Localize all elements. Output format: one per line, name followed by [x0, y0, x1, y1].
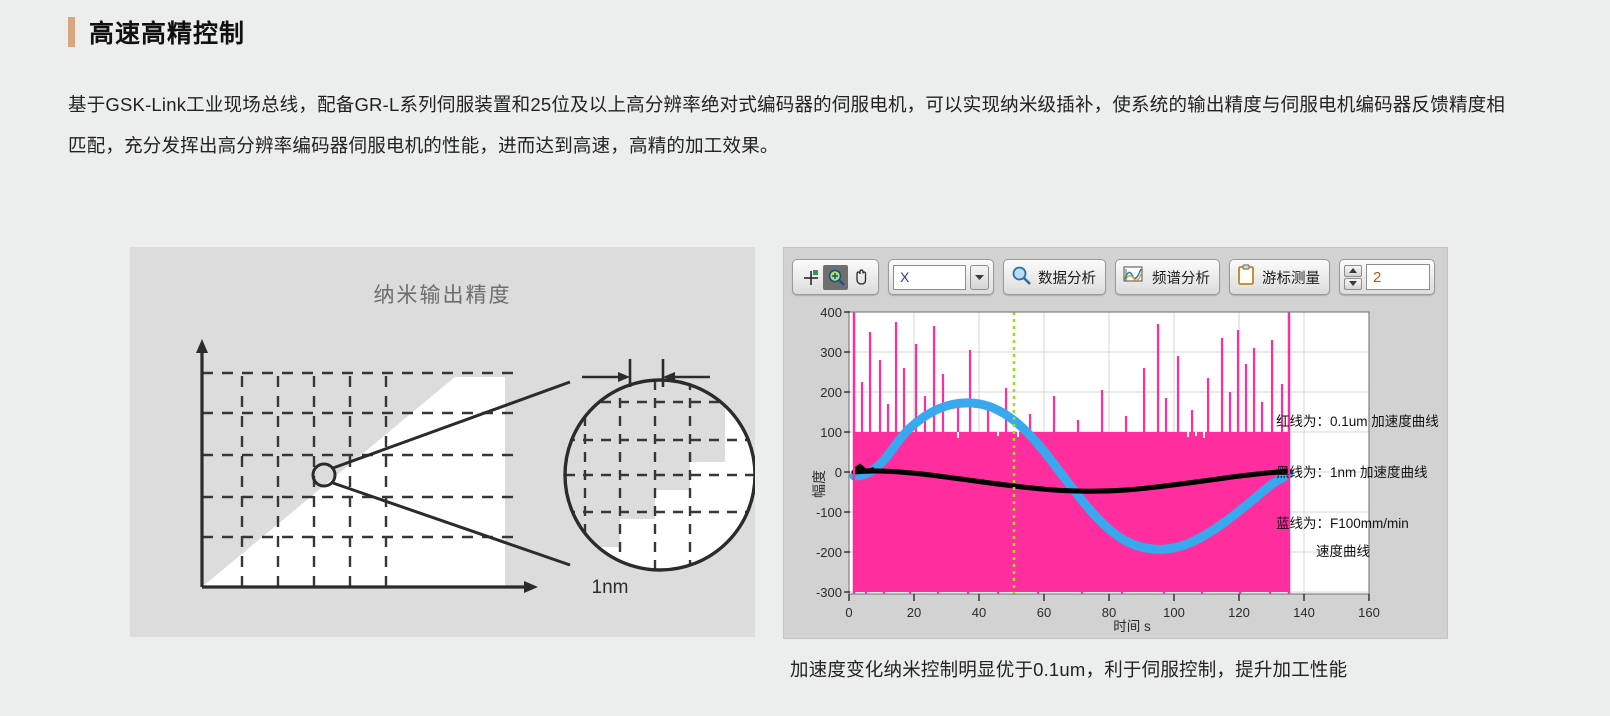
page-title: 高速高精控制 — [89, 14, 245, 50]
legend-blue-line: 蓝线为：F100mm/min — [1276, 516, 1409, 531]
cursor-count-spinner[interactable]: 2 — [1339, 259, 1435, 295]
accent-bar — [68, 17, 75, 47]
chart-toolbar: X 数据分析 频谱分析 — [792, 256, 1435, 298]
svg-text:100: 100 — [820, 425, 842, 440]
svg-text:100: 100 — [1163, 605, 1185, 620]
zoom-tool[interactable] — [823, 265, 848, 290]
cursor-measure-button[interactable]: 游标测量 — [1229, 259, 1330, 295]
spinner-value[interactable]: 2 — [1366, 264, 1430, 290]
crosshair-cursor-tool[interactable] — [798, 265, 823, 290]
svg-text:160: 160 — [1358, 605, 1380, 620]
svg-text:0: 0 — [835, 465, 842, 480]
svg-text:-200: -200 — [816, 545, 842, 560]
data-analysis-button[interactable]: 数据分析 — [1003, 259, 1106, 295]
x-axis-label: 时间 s — [1113, 619, 1151, 632]
svg-text:0: 0 — [845, 605, 852, 620]
spinner-down-icon[interactable] — [1344, 278, 1362, 290]
svg-text:140: 140 — [1293, 605, 1315, 620]
nanometer-precision-figure: 纳米输出精度 — [130, 247, 755, 637]
svg-text:60: 60 — [1037, 605, 1051, 620]
svg-text:120: 120 — [1228, 605, 1250, 620]
channel-combo[interactable]: X — [888, 259, 994, 295]
y-axis-label: 幅度 — [811, 470, 827, 498]
chevron-down-icon[interactable] — [970, 265, 989, 290]
waveform-graph-svg[interactable]: 400 300 200 100 0 -100 -200 -300 — [792, 304, 1441, 632]
waveform-graph[interactable]: 400 300 200 100 0 -100 -200 -300 — [792, 304, 1441, 632]
spinner-arrows[interactable] — [1344, 265, 1362, 290]
magnifier-icon — [1010, 264, 1032, 290]
figure-caption: 加速度变化纳米控制明显优于0.1um，利于伺服控制，提升加工性能 — [790, 656, 1347, 682]
intro-paragraph: 基于GSK-Link工业现场总线，配备GR-L系列伺服装置和25位及以上高分辨率… — [68, 84, 1508, 166]
spinner-up-icon[interactable] — [1344, 265, 1362, 277]
svg-text:40: 40 — [972, 605, 986, 620]
svg-text:80: 80 — [1102, 605, 1116, 620]
channel-combo-value[interactable]: X — [893, 265, 966, 290]
svg-text:400: 400 — [820, 305, 842, 320]
legend-red-line: 红线为：0.1um 加速度曲线 — [1276, 414, 1439, 429]
pan-hand-tool[interactable] — [848, 265, 873, 290]
svg-text:-100: -100 — [816, 505, 842, 520]
svg-text:300: 300 — [820, 345, 842, 360]
instrument-panel: X 数据分析 频谱分析 — [783, 247, 1448, 639]
svg-text:200: 200 — [820, 385, 842, 400]
legend-blue-line-2: 速度曲线 — [1316, 544, 1370, 559]
clipboard-icon — [1236, 264, 1256, 290]
spectrum-analysis-button[interactable]: 频谱分析 — [1115, 259, 1220, 295]
tool-mode-group — [792, 259, 879, 295]
page-header: 高速高精控制 — [68, 14, 245, 50]
spectrum-icon — [1122, 264, 1146, 290]
data-analysis-label: 数据分析 — [1038, 267, 1096, 288]
legend-black-line: 黑线为：1nm 加速度曲线 — [1276, 465, 1428, 480]
svg-text:-300: -300 — [816, 585, 842, 600]
cursor-measure-label: 游标测量 — [1262, 267, 1320, 288]
spectrum-analysis-label: 频谱分析 — [1152, 267, 1210, 288]
dimension-label-1nm: 1nm — [550, 577, 670, 599]
svg-text:20: 20 — [907, 605, 921, 620]
